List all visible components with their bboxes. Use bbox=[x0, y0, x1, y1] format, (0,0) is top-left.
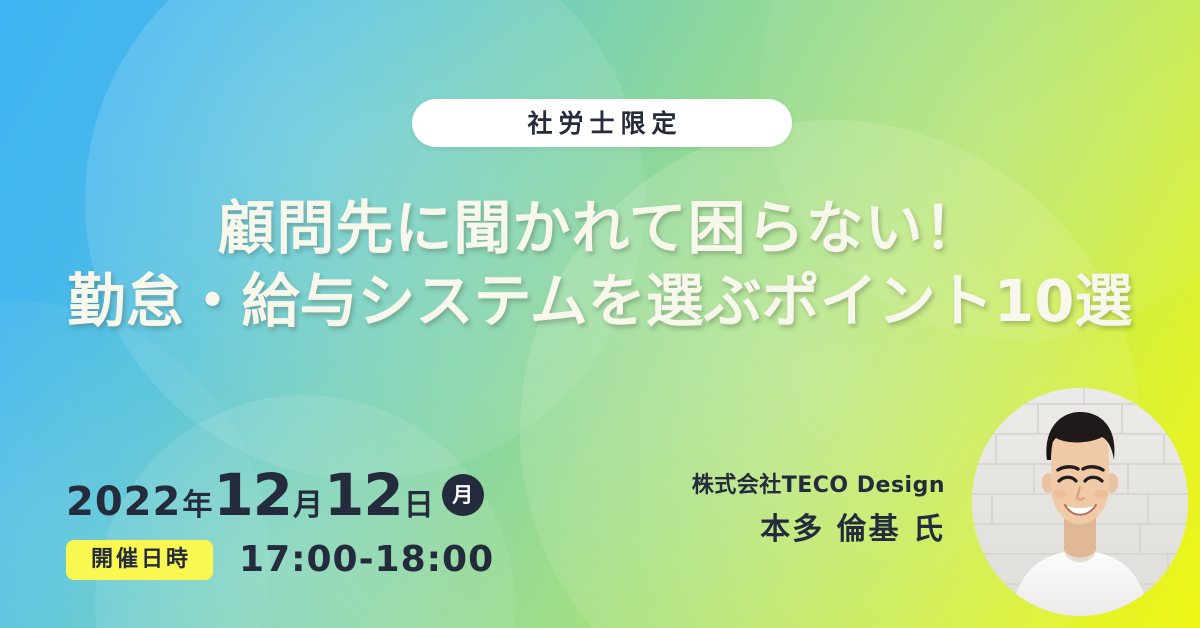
date-year-unit: 年 bbox=[182, 491, 212, 521]
date-month: 12 bbox=[213, 466, 292, 524]
schedule-badge: 開催日時 bbox=[66, 540, 213, 580]
title-line-1: 顧問先に聞かれて困らない！ bbox=[0, 196, 1200, 261]
portrait-image bbox=[972, 388, 1188, 616]
speaker-info: 株式会社TECO Design 本多 倫基 氏 bbox=[692, 475, 945, 545]
schedule-block: 2022 年 12 月 12 日 月 開催日時 17:00-18:00 bbox=[66, 466, 494, 580]
speaker-photo bbox=[972, 388, 1188, 616]
date-day-unit: 日 bbox=[404, 491, 434, 521]
title-line-2: 勤怠・給与システムを選ぶポイント10選 bbox=[0, 269, 1200, 334]
eyebrow-label: 社労士限定 bbox=[521, 111, 682, 136]
time-range: 17:00-18:00 bbox=[239, 542, 494, 578]
speaker-name: 本多 倫基 氏 bbox=[692, 515, 945, 545]
date-year: 2022 bbox=[66, 482, 181, 522]
page-title: 顧問先に聞かれて困らない！ 勤怠・給与システムを選ぶポイント10選 bbox=[0, 196, 1200, 334]
event-time: 開催日時 17:00-18:00 bbox=[66, 540, 494, 580]
event-date: 2022 年 12 月 12 日 月 bbox=[66, 466, 494, 524]
date-month-unit: 月 bbox=[293, 491, 323, 521]
day-of-week-badge: 月 bbox=[442, 474, 484, 516]
webinar-banner: 社労士限定 顧問先に聞かれて困らない！ 勤怠・給与システムを選ぶポイント10選 … bbox=[0, 0, 1200, 628]
eyebrow-pill: 社労士限定 bbox=[412, 99, 792, 147]
date-day: 12 bbox=[324, 466, 403, 524]
speaker-company: 株式会社TECO Design bbox=[692, 475, 945, 497]
